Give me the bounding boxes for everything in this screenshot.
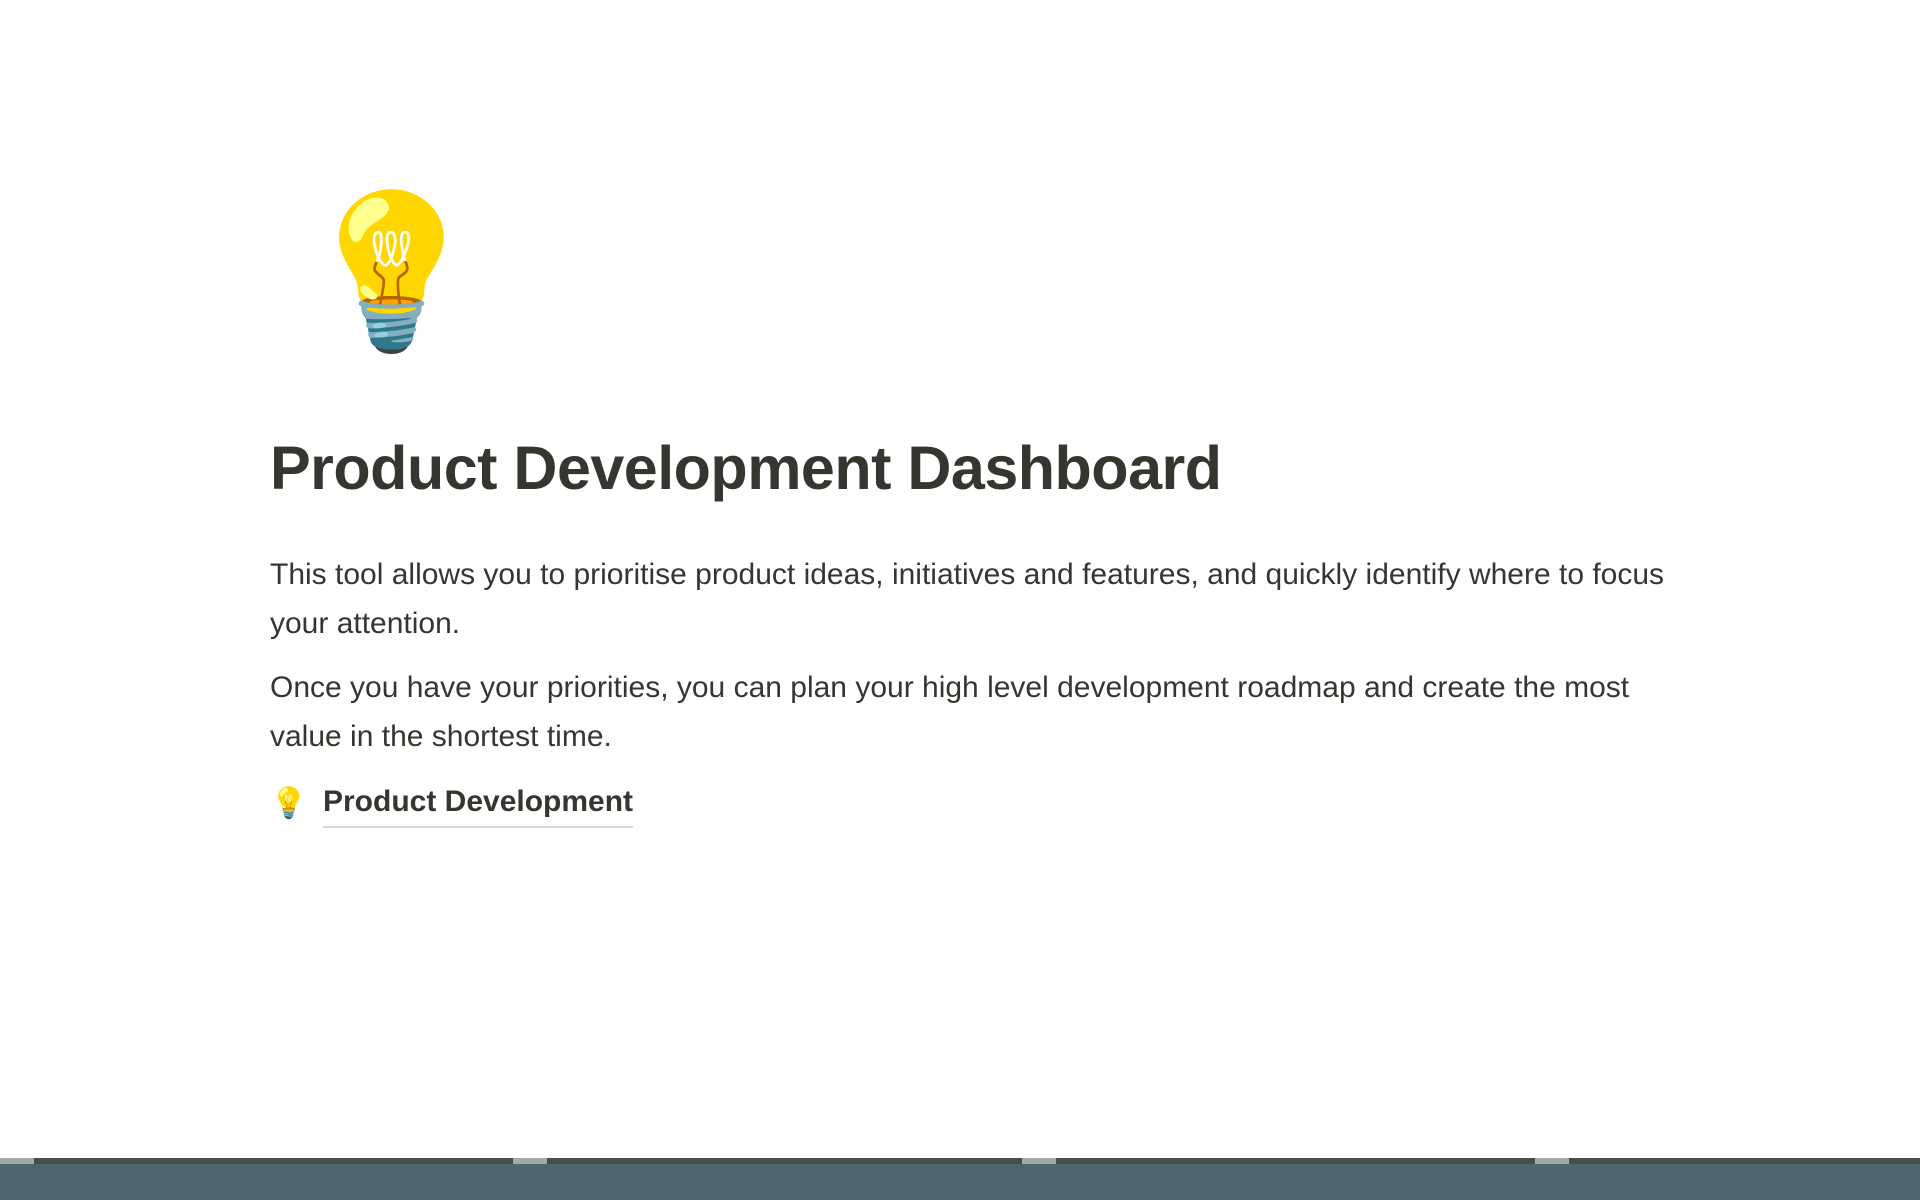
light-bulb-emoji-icon: 💡 xyxy=(298,186,394,358)
bar-tab-1[interactable] xyxy=(0,1158,34,1164)
page-title[interactable]: Product Development Dashboard xyxy=(270,430,1222,506)
bar-tab-2[interactable] xyxy=(513,1158,547,1164)
page-canvas: 💡 Product Development Dashboard This too… xyxy=(0,0,1920,1200)
bar-tab-4[interactable] xyxy=(1535,1158,1569,1164)
bottom-chrome-bar xyxy=(0,1158,1920,1200)
bar-tab-3[interactable] xyxy=(1022,1158,1056,1164)
bottom-bar-edge xyxy=(0,1158,1920,1164)
page-link-label[interactable]: Product Development xyxy=(323,780,633,828)
page-link-product-development[interactable]: 💡 Product Development xyxy=(270,780,633,828)
page-icon[interactable]: 💡 xyxy=(298,186,394,358)
intro-paragraph-1[interactable]: This tool allows you to prioritise produ… xyxy=(270,550,1695,648)
intro-paragraph-2[interactable]: Once you have your priorities, you can p… xyxy=(270,663,1695,761)
light-bulb-small-icon: 💡 xyxy=(270,780,304,828)
